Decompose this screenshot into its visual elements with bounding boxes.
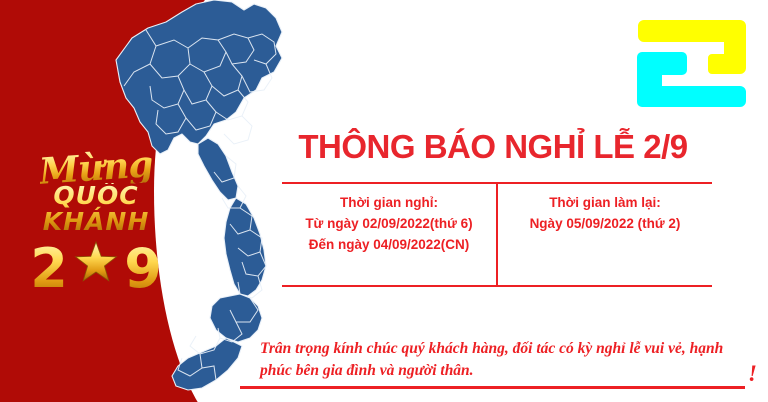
closing-message: Trân trọng kính chúc quý khách hàng, đối… xyxy=(260,338,760,383)
closing-message-underline xyxy=(240,386,745,389)
holiday-announcement-banner: Mừng QUỐC KHÁNH 2 9 xyxy=(0,0,768,402)
closing-message-exclamation: ! xyxy=(748,362,757,385)
leave-period-to: Đến ngày 04/09/2022(CN) xyxy=(282,235,496,256)
schedule-table: Thời gian nghỉ: Từ ngày 02/09/2022(thứ 6… xyxy=(282,182,712,287)
return-date-column: Thời gian làm lại: Ngày 05/09/2022 (thứ … xyxy=(498,184,712,285)
leave-period-from: Từ ngày 02/09/2022(thứ 6) xyxy=(282,214,496,235)
return-date-heading: Thời gian làm lại: xyxy=(498,193,712,214)
announcement-content: THÔNG BÁO NGHỈ LỄ 2/9 Thời gian nghỉ: Từ… xyxy=(248,0,768,402)
return-date-value: Ngày 05/09/2022 (thứ 2) xyxy=(498,214,712,235)
leave-period-column: Thời gian nghỉ: Từ ngày 02/09/2022(thứ 6… xyxy=(282,184,498,285)
red-background-panel xyxy=(0,0,248,402)
closing-message-line-2: phúc bên gia đình và người thân. xyxy=(260,360,760,382)
closing-message-line-1: Trân trọng kính chúc quý khách hàng, đối… xyxy=(260,338,760,360)
leave-period-heading: Thời gian nghỉ: xyxy=(282,193,496,214)
page-title: THÔNG BÁO NGHỈ LỄ 2/9 xyxy=(248,128,738,166)
